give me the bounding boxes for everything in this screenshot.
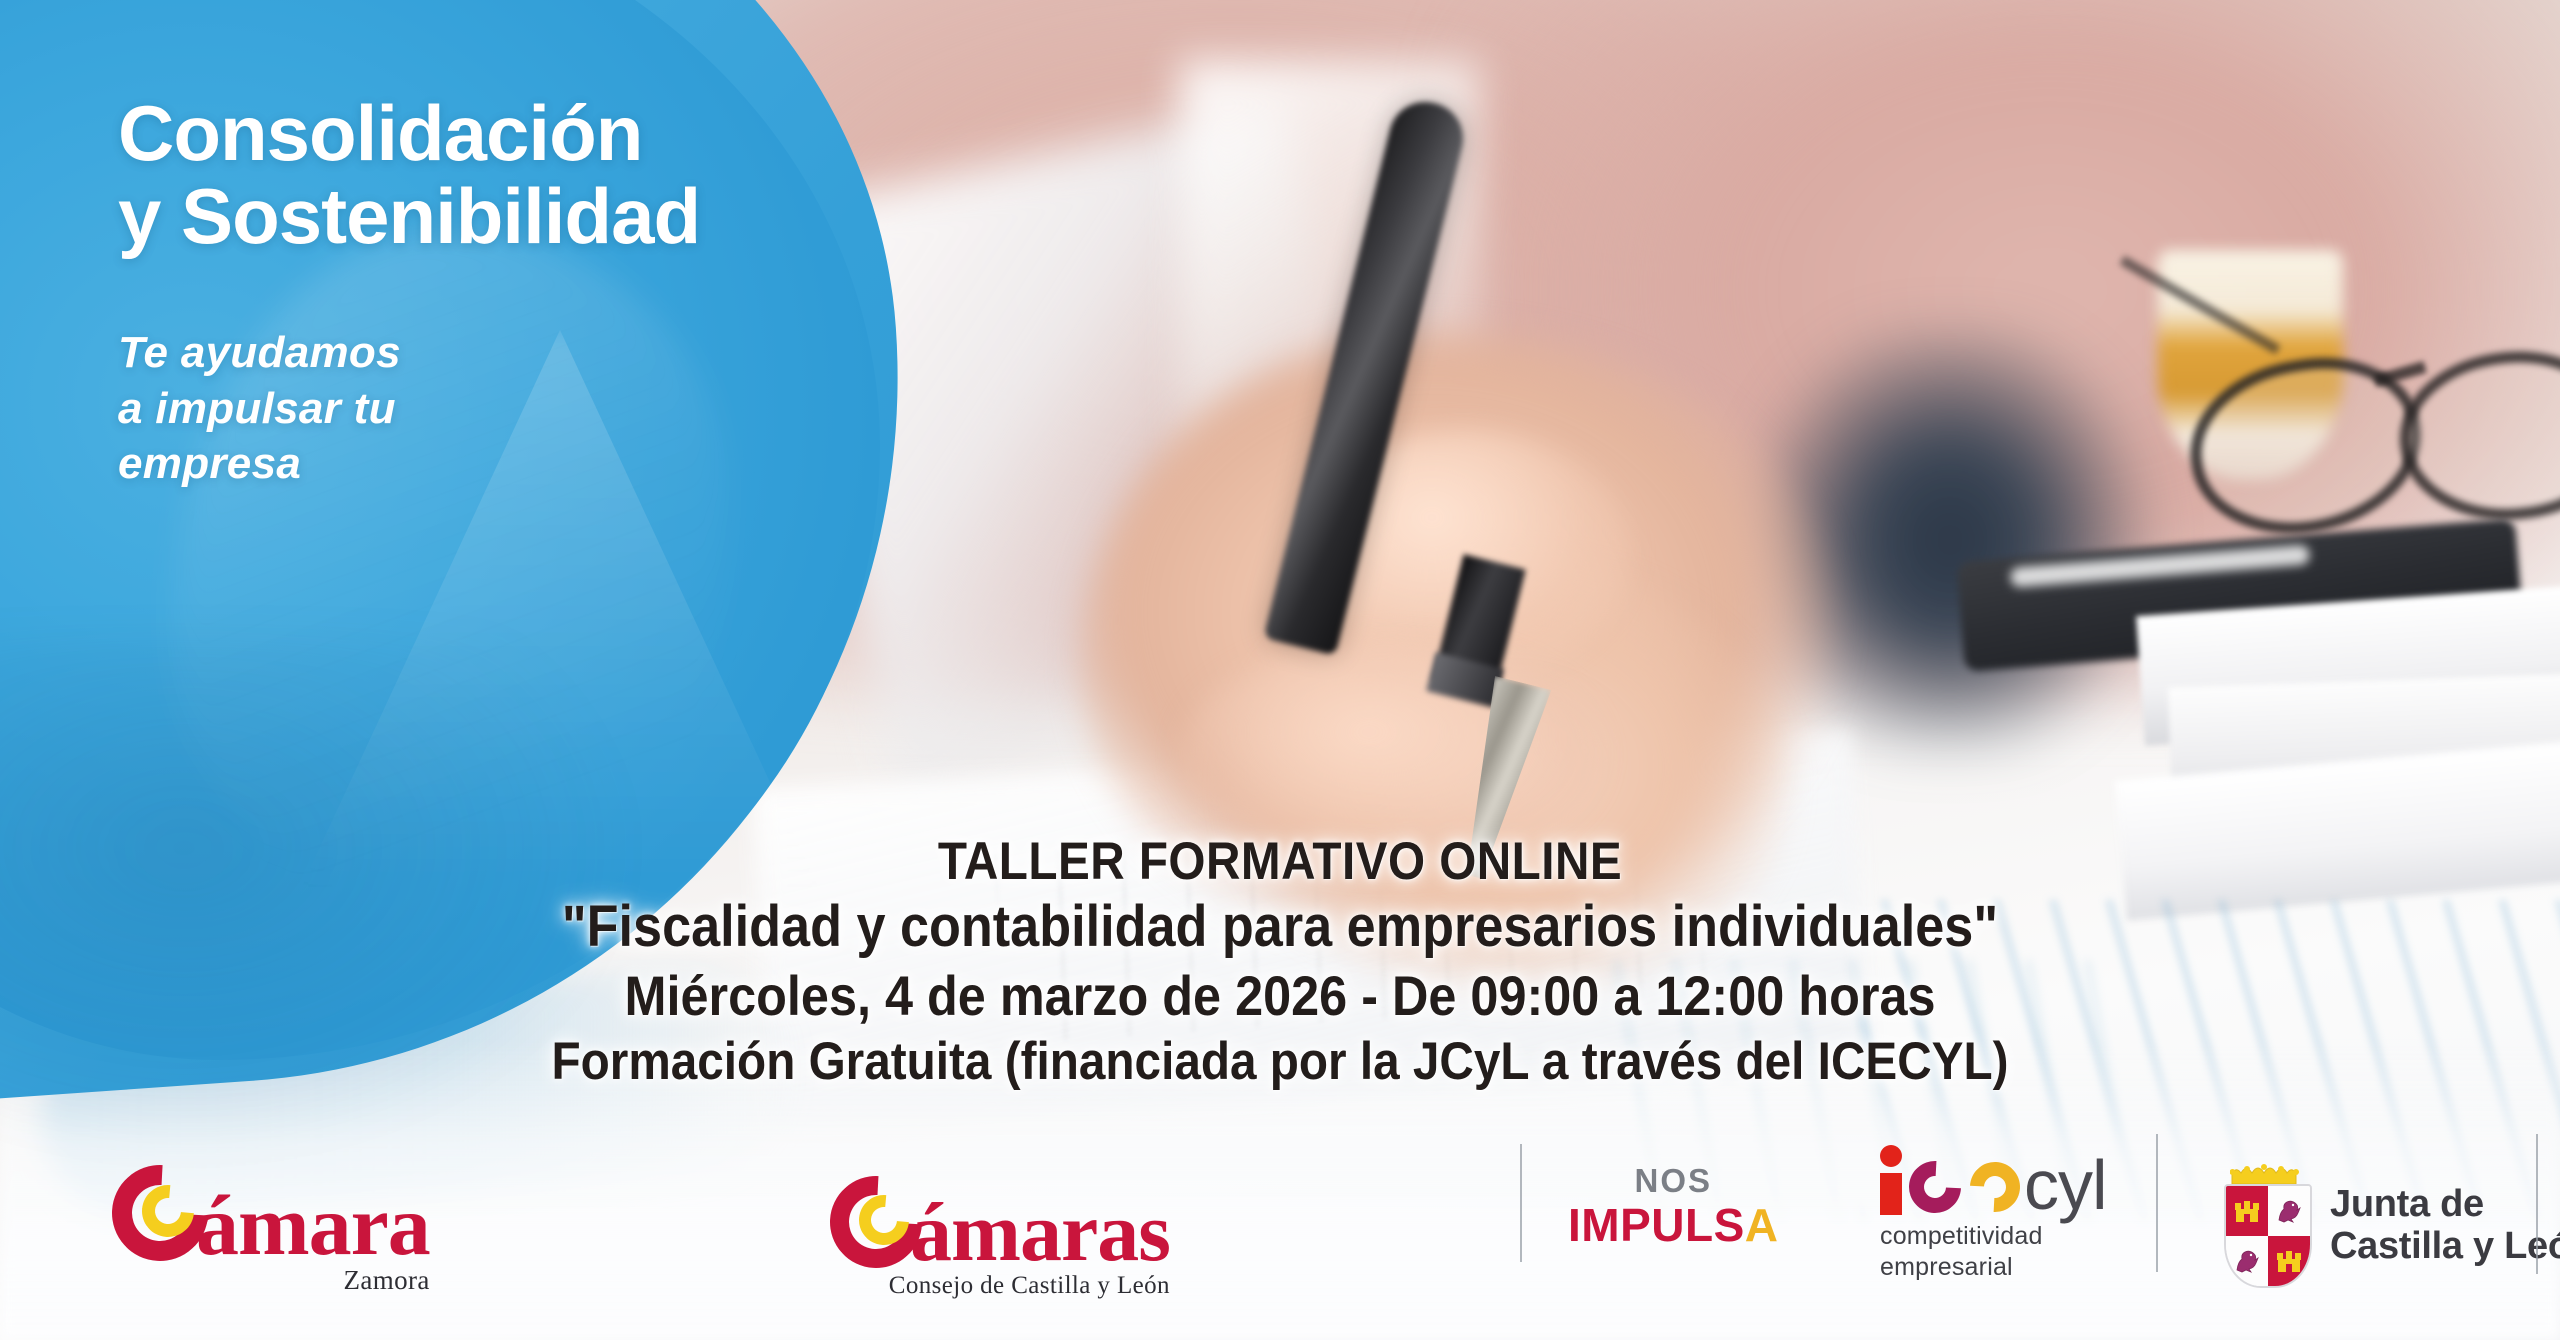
promotional-banner: Consolidación y Sostenibilidad Te ayudam… xyxy=(0,0,2560,1340)
logo-divider-2 xyxy=(2156,1134,2158,1272)
event-funding: Formación Gratuita (financiada por la JC… xyxy=(128,1030,2432,1095)
impulsa-text: IMPULS xyxy=(1568,1202,1745,1248)
logo-junta-castilla-y-leon[interactable]: Junta de Castilla y León xyxy=(2218,1162,2560,1290)
icecyl-c-icon xyxy=(1898,1150,1971,1223)
camara-zamora-text: ámara xyxy=(196,1190,430,1261)
camaras-cyl-text: ámaras xyxy=(910,1199,1170,1268)
tagline-line-2: a impulsar tu xyxy=(118,381,878,436)
event-kicker: TALLER FORMATIVO ONLINE xyxy=(128,832,2432,892)
headline-line-1: Consolidación xyxy=(118,92,878,175)
icecyl-subtitle-line-2: empresarial xyxy=(1880,1252,2107,1283)
junta-line-2: Castilla y León xyxy=(2330,1226,2560,1268)
tagline-line-1: Te ayudamos xyxy=(118,325,878,380)
event-details: TALLER FORMATIVO ONLINE "Fiscalidad y co… xyxy=(0,832,2560,1095)
junta-line-1: Junta de xyxy=(2330,1184,2560,1226)
lion-icon xyxy=(2274,1196,2304,1226)
camaras-cyl-wordmark: ámaras xyxy=(830,1176,1170,1268)
castle-icon xyxy=(2274,1246,2304,1276)
shield-quarter-castle-1 xyxy=(2226,1186,2268,1236)
icecyl-subtitle: competitividad empresarial xyxy=(1880,1221,2107,1282)
logo-nos-impulsa[interactable]: NOS IMPULS A xyxy=(1568,1164,1779,1248)
castle-icon xyxy=(2232,1196,2262,1226)
program-tagline: Te ayudamos a impulsar tu empresa xyxy=(118,325,878,491)
event-schedule: Miércoles, 4 de marzo de 2026 - De 09:00… xyxy=(128,962,2432,1030)
shield-quarter-lion-2 xyxy=(2226,1236,2268,1286)
icecyl-reversed-e-icon xyxy=(1960,1152,2031,1223)
crown-icon xyxy=(2230,1162,2302,1186)
icecyl-i-dot xyxy=(1880,1145,1902,1167)
camara-c-icon xyxy=(112,1165,208,1261)
logo-row: ámara Zamora ámaras Consejo de Castilla … xyxy=(0,1090,2560,1340)
logo-divider-3 xyxy=(2536,1134,2538,1274)
shield-icon xyxy=(2224,1184,2312,1288)
headline-line-2: y Sostenibilidad xyxy=(118,175,878,258)
junta-coat-of-arms-icon xyxy=(2218,1162,2314,1290)
page-title: Consolidación y Sostenibilidad xyxy=(118,92,878,257)
icecyl-subtitle-line-1: competitividad xyxy=(1880,1221,2107,1252)
logo-camaras-consejo-cyl[interactable]: ámaras Consejo de Castilla y León xyxy=(830,1176,1170,1300)
tagline-line-3: empresa xyxy=(118,436,878,491)
event-title: "Fiscalidad y contabilidad para empresar… xyxy=(128,892,2432,962)
junta-wordmark: Junta de Castilla y León xyxy=(2330,1184,2560,1268)
impulsa-accent-a: A xyxy=(1745,1202,1779,1248)
program-branding: Consolidación y Sostenibilidad Te ayudam… xyxy=(118,92,878,492)
icecyl-cyl-text: cyl xyxy=(2024,1155,2107,1215)
shield-quarter-lion-1 xyxy=(2268,1186,2310,1236)
icecyl-i-stem xyxy=(1880,1173,1902,1215)
logo-divider-1 xyxy=(1520,1144,1522,1262)
camara-zamora-wordmark: ámara xyxy=(112,1165,430,1261)
icecyl-wordmark: cyl xyxy=(1880,1135,2107,1215)
shield-quarter-castle-2 xyxy=(2268,1236,2310,1286)
lion-icon xyxy=(2232,1246,2262,1276)
icecyl-i-icon xyxy=(1880,1145,1902,1215)
nos-impulsa-top-text: NOS xyxy=(1568,1164,1779,1197)
logo-icecyl[interactable]: cyl competitividad empresarial xyxy=(1880,1135,2107,1282)
logo-camara-zamora[interactable]: ámara Zamora xyxy=(112,1165,430,1296)
camaras-c-icon xyxy=(830,1176,922,1268)
nos-impulsa-main-text: IMPULS A xyxy=(1568,1202,1779,1248)
